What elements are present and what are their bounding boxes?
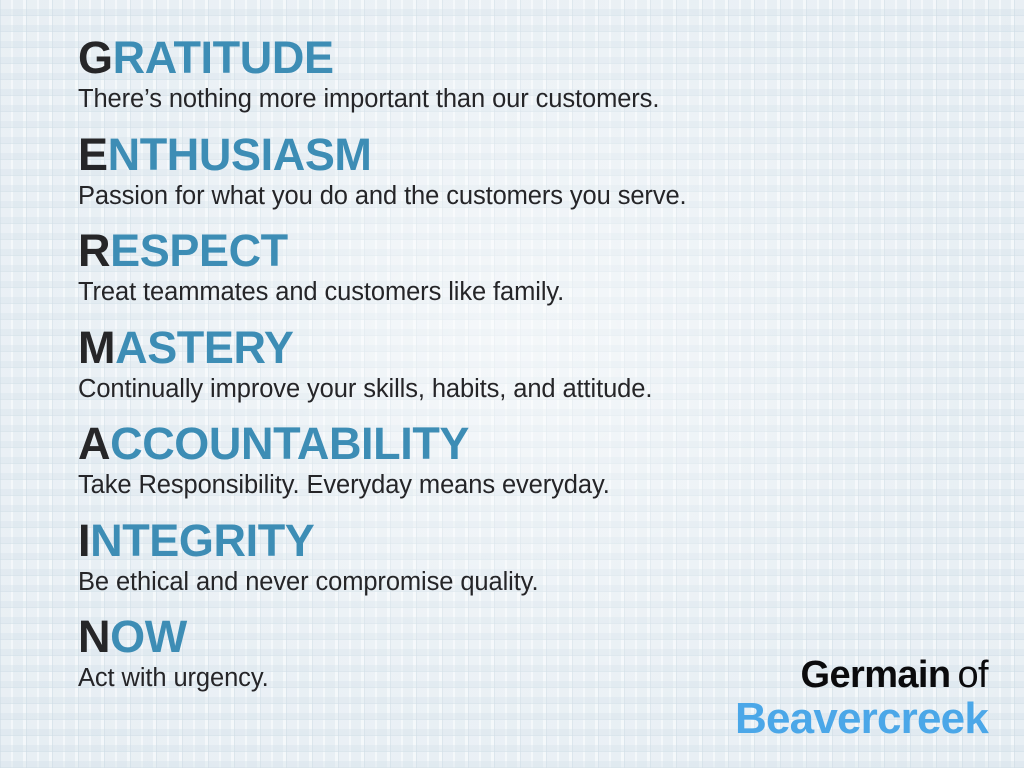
value-description-now: Act with urgency.: [78, 663, 687, 693]
dealership-logo: Germainof Beavercreek: [735, 655, 988, 742]
value-description-integrity: Be ethical and never compromise quality.: [78, 567, 687, 597]
value-initial-letter: N: [78, 611, 110, 662]
value-heading-accountability: ACCOUNTABILITY: [78, 420, 687, 467]
value-block-respect: RESPECT Treat teammates and customers li…: [78, 227, 687, 307]
value-initial-letter: E: [78, 129, 108, 180]
value-word-remainder: CCOUNTABILITY: [110, 418, 469, 469]
logo-brand-name: Germain: [801, 654, 951, 696]
value-block-now: NOW Act with urgency.: [78, 613, 687, 693]
value-word-remainder: ESPECT: [110, 225, 288, 276]
logo-location-name: Beavercreek: [735, 696, 988, 742]
value-block-gratitude: GRATITUDE There’s nothing more important…: [78, 34, 687, 114]
value-word-remainder: NTHUSIASM: [108, 129, 372, 180]
value-heading-gratitude: GRATITUDE: [78, 34, 687, 81]
value-word-remainder: OW: [110, 611, 187, 662]
value-initial-letter: M: [78, 322, 115, 373]
value-description-gratitude: There’s nothing more important than our …: [78, 84, 687, 114]
value-heading-respect: RESPECT: [78, 227, 687, 274]
value-description-accountability: Take Responsibility. Everyday means ever…: [78, 470, 687, 500]
values-poster: GRATITUDE There’s nothing more important…: [0, 0, 1024, 768]
value-heading-mastery: MASTERY: [78, 324, 687, 371]
value-description-respect: Treat teammates and customers like famil…: [78, 277, 687, 307]
value-initial-letter: R: [78, 225, 110, 276]
value-block-mastery: MASTERY Continually improve your skills,…: [78, 324, 687, 404]
value-heading-integrity: INTEGRITY: [78, 517, 687, 564]
logo-primary-line: Germainof: [735, 655, 988, 695]
value-heading-now: NOW: [78, 613, 687, 660]
logo-connector-word: of: [958, 654, 989, 696]
value-block-accountability: ACCOUNTABILITY Take Responsibility. Ever…: [78, 420, 687, 500]
value-heading-enthusiasm: ENTHUSIASM: [78, 131, 687, 178]
value-word-remainder: ASTERY: [115, 322, 293, 373]
value-block-integrity: INTEGRITY Be ethical and never compromis…: [78, 517, 687, 597]
value-description-enthusiasm: Passion for what you do and the customer…: [78, 181, 687, 211]
core-values-list: GRATITUDE There’s nothing more important…: [78, 34, 687, 693]
value-description-mastery: Continually improve your skills, habits,…: [78, 374, 687, 404]
value-initial-letter: A: [78, 418, 110, 469]
value-initial-letter: G: [78, 32, 113, 83]
value-word-remainder: RATITUDE: [113, 32, 334, 83]
value-block-enthusiasm: ENTHUSIASM Passion for what you do and t…: [78, 131, 687, 211]
value-initial-letter: I: [78, 515, 90, 566]
value-word-remainder: NTEGRITY: [90, 515, 314, 566]
